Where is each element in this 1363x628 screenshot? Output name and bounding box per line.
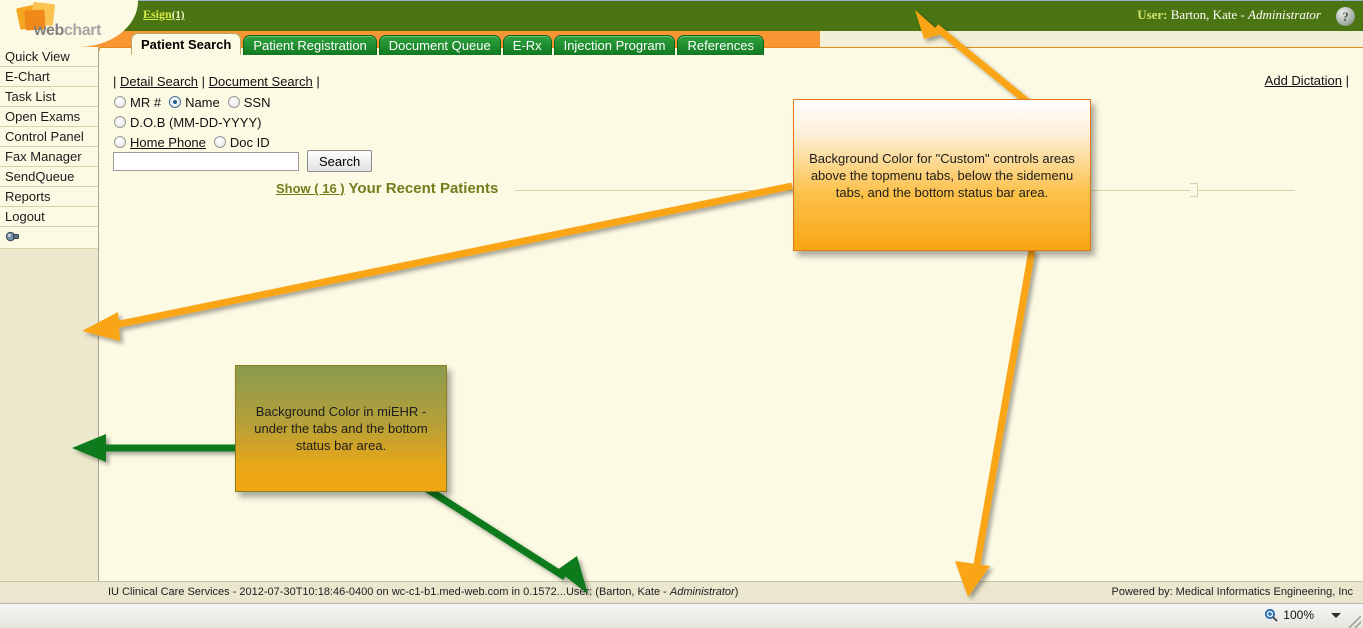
sidebar-item-reports[interactable]: Reports xyxy=(0,187,98,207)
recent-patients-header: Show ( 16 ) Your Recent Patients xyxy=(270,180,504,197)
custom-background-callout-text: Background Color for "Custom" controls a… xyxy=(804,150,1080,201)
radio-label-home-phone[interactable]: Home Phone xyxy=(130,135,206,150)
help-icon[interactable]: ? xyxy=(1336,7,1355,26)
chevron-down-icon[interactable] xyxy=(1331,613,1341,618)
esign-label: Esign xyxy=(143,7,172,21)
main-content: | Detail Search | Document Search | Add … xyxy=(100,47,1363,581)
browser-zoom-control[interactable]: 100% xyxy=(1264,608,1341,622)
search-row: Search xyxy=(113,150,372,172)
sidebar-item-open-exams[interactable]: Open Exams xyxy=(0,107,98,127)
webchart-application: Esign(1) User: Barton, Kate - Administra… xyxy=(0,0,1363,628)
search-button[interactable]: Search xyxy=(307,150,372,172)
custom-background-callout: Background Color for "Custom" controls a… xyxy=(793,99,1091,251)
document-search-link[interactable]: Document Search xyxy=(209,74,313,89)
window-resize-grip[interactable] xyxy=(1349,616,1361,628)
radio-doc-id[interactable] xyxy=(214,136,226,148)
radio-label-name: Name xyxy=(185,95,220,110)
radio-name[interactable] xyxy=(169,96,181,108)
radio-label-mr-number: MR # xyxy=(130,95,161,110)
plug-icon[interactable] xyxy=(5,230,20,244)
subnav-separator: | xyxy=(198,74,209,89)
sidebar-footer xyxy=(0,227,98,249)
add-dictation-area: Add Dictation | xyxy=(1265,73,1349,88)
sidebar-item-logout[interactable]: Logout xyxy=(0,207,98,227)
recent-patients-title: Your Recent Patients xyxy=(349,180,499,197)
status-text: IU Clinical Care Services - 2012-07-30T1… xyxy=(108,586,670,598)
show-recent-patients-link[interactable]: Show ( 16 ) xyxy=(276,181,345,196)
status-tail: ) xyxy=(735,586,739,598)
topmenu-tabs: Patient Search Patient Registration Docu… xyxy=(131,33,766,55)
radio-label-doc-id: Doc ID xyxy=(230,135,270,150)
tab-references[interactable]: References xyxy=(677,35,763,55)
tab-e-rx[interactable]: E-Rx xyxy=(503,35,552,55)
logo-word-web: web xyxy=(34,22,64,39)
user-name: Barton, Kate - xyxy=(1171,7,1248,22)
user-info: User: Barton, Kate - Administrator xyxy=(1137,7,1321,23)
tab-injection-program[interactable]: Injection Program xyxy=(554,35,676,55)
user-label: User: xyxy=(1137,7,1167,22)
sidebar-item-control-panel[interactable]: Control Panel xyxy=(0,127,98,147)
tab-document-queue[interactable]: Document Queue xyxy=(379,35,501,55)
recent-patients-box-right-edge xyxy=(1190,183,1198,197)
sidemenu: Quick View E-Chart Task List Open Exams … xyxy=(0,47,99,581)
powered-by-text: Powered by: Medical Informatics Engineer… xyxy=(1111,586,1353,598)
search-criteria-radios: MR # Name SSN D.O.B (MM-DD-YYYY) Home Ph… xyxy=(114,92,278,152)
esign-link[interactable]: Esign(1) xyxy=(143,7,185,22)
tab-patient-registration[interactable]: Patient Registration xyxy=(243,35,376,55)
subnav-prefix: | xyxy=(113,74,120,89)
logo-word-chart: chart xyxy=(64,22,101,39)
user-role: Administrator xyxy=(1248,7,1321,22)
sidebar-item-e-chart[interactable]: E-Chart xyxy=(0,67,98,87)
subnav-links: | Detail Search | Document Search | xyxy=(113,74,320,89)
status-role: Administrator xyxy=(670,586,735,598)
radio-ssn[interactable] xyxy=(228,96,240,108)
radio-label-ssn: SSN xyxy=(244,95,271,110)
logo-wordmark: webchart xyxy=(34,22,101,40)
sidebar-item-quick-view[interactable]: Quick View xyxy=(0,47,98,67)
search-radio-row-1: MR # Name SSN xyxy=(114,92,278,112)
browser-status-bar: 100% xyxy=(0,603,1363,628)
search-radio-row-3: Home Phone Doc ID xyxy=(114,132,278,152)
miehr-background-callout: Background Color in miEHR - under the ta… xyxy=(235,365,447,492)
add-dictation-link[interactable]: Add Dictation xyxy=(1265,73,1342,88)
esign-count: (1) xyxy=(172,9,185,21)
search-radio-row-2: D.O.B (MM-DD-YYYY) xyxy=(114,112,278,132)
sidebar-item-sendqueue[interactable]: SendQueue xyxy=(0,167,98,187)
radio-dob[interactable] xyxy=(114,116,126,128)
search-input[interactable] xyxy=(113,152,299,171)
magnifier-icon xyxy=(1264,608,1278,622)
sidebar-item-fax-manager[interactable]: Fax Manager xyxy=(0,147,98,167)
app-status-bar: IU Clinical Care Services - 2012-07-30T1… xyxy=(0,581,1363,603)
tab-patient-search[interactable]: Patient Search xyxy=(131,33,241,55)
add-dictation-suffix: | xyxy=(1342,73,1349,88)
sidebar-item-task-list[interactable]: Task List xyxy=(0,87,98,107)
zoom-level-label: 100% xyxy=(1283,608,1314,622)
subnav-suffix: | xyxy=(313,74,320,89)
radio-mr-number[interactable] xyxy=(114,96,126,108)
miehr-background-callout-text: Background Color in miEHR - under the ta… xyxy=(246,403,436,454)
radio-home-phone[interactable] xyxy=(114,136,126,148)
detail-search-link[interactable]: Detail Search xyxy=(120,74,198,89)
status-bar-left-text: IU Clinical Care Services - 2012-07-30T1… xyxy=(108,586,738,598)
top-header-bar: Esign(1) User: Barton, Kate - Administra… xyxy=(0,0,1363,31)
radio-label-dob: D.O.B (MM-DD-YYYY) xyxy=(130,115,261,130)
